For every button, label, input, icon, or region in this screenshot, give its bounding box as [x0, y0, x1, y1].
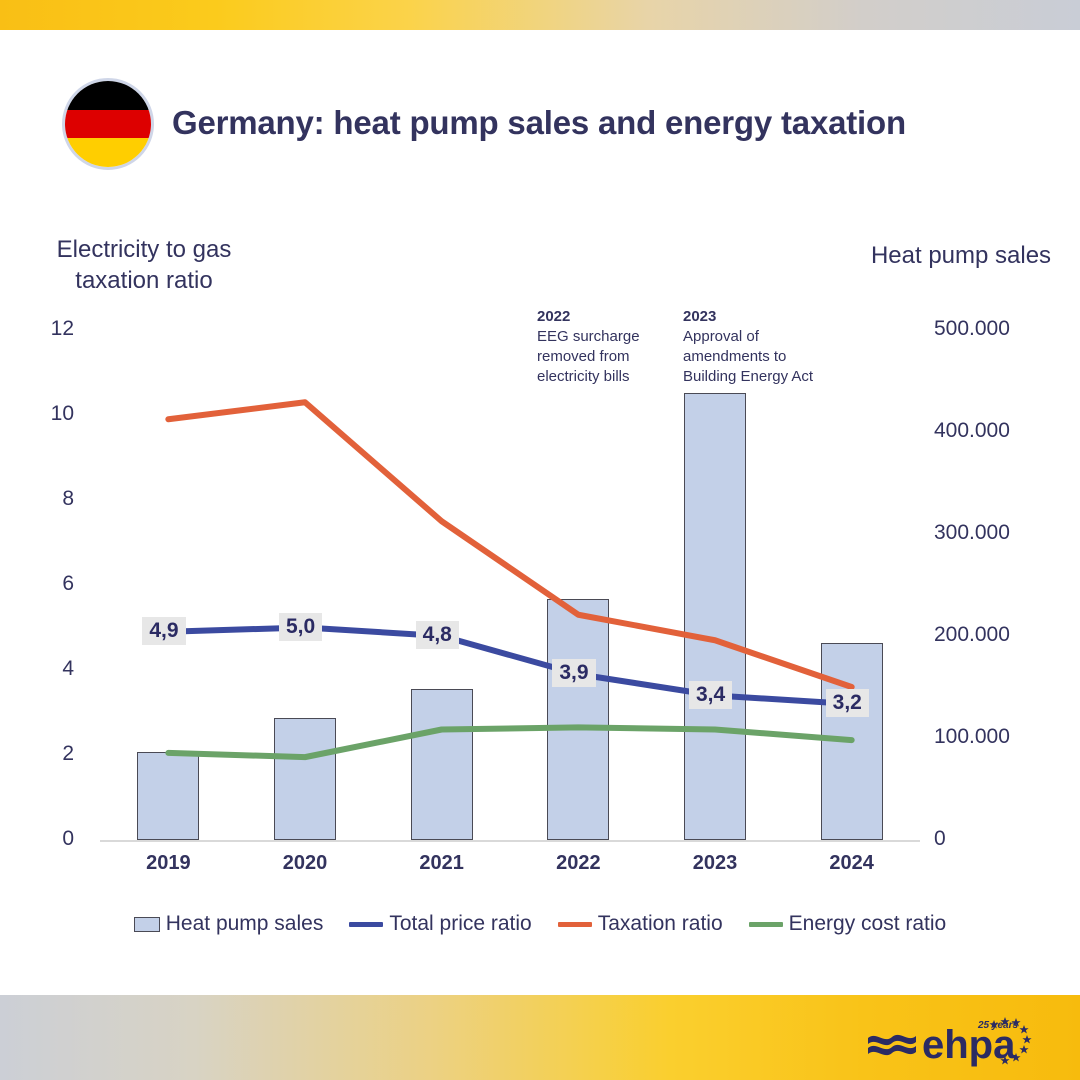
- right-tick: 500.000: [934, 317, 1054, 341]
- bar[interactable]: [684, 393, 746, 840]
- ehpa-logo: ehpa 25 years: [866, 1012, 1046, 1068]
- right-tick: 300.000: [934, 521, 1054, 545]
- x-axis-label: 2024: [792, 852, 912, 875]
- annotation-2023-year: 2023: [683, 307, 843, 327]
- bar[interactable]: [411, 689, 473, 840]
- legend-item[interactable]: Taxation ratio: [558, 912, 723, 936]
- x-axis-label: 2019: [108, 852, 228, 875]
- top-gradient-banner: [0, 0, 1080, 30]
- annotation-2022-year: 2022: [537, 307, 687, 327]
- bar[interactable]: [547, 599, 609, 840]
- annotation-2023-text: Approval of amendments to Building Energ…: [683, 328, 813, 385]
- x-axis-label: 2021: [382, 852, 502, 875]
- legend-item-label: Heat pump sales: [166, 912, 324, 936]
- legend-item[interactable]: Energy cost ratio: [749, 912, 947, 936]
- chart-legend: Heat pump salesTotal price ratioTaxation…: [0, 912, 1080, 936]
- right-axis-title: Heat pump sales: [866, 240, 1056, 271]
- point-label: 3,4: [689, 681, 732, 709]
- left-tick: 12: [14, 317, 74, 341]
- legend-item-label: Total price ratio: [389, 912, 531, 936]
- left-tick: 4: [14, 657, 74, 681]
- point-label: 4,8: [416, 621, 459, 649]
- legend-swatch-line-icon: [558, 922, 592, 927]
- bar[interactable]: [274, 718, 336, 840]
- annotation-2022: 2022 EEG surcharge removed from electric…: [537, 307, 687, 387]
- left-tick: 8: [14, 487, 74, 511]
- right-tick: 100.000: [934, 725, 1054, 749]
- left-tick: 0: [14, 827, 74, 851]
- point-label: 3,2: [826, 689, 869, 717]
- plot-area: [100, 330, 920, 840]
- bar[interactable]: [821, 643, 883, 840]
- annotation-2022-text: EEG surcharge removed from electricity b…: [537, 328, 640, 385]
- left-axis-title: Electricity to gas taxation ratio: [44, 234, 244, 296]
- x-axis-label: 2020: [245, 852, 365, 875]
- left-tick: 2: [14, 742, 74, 766]
- legend-item[interactable]: Total price ratio: [349, 912, 531, 936]
- germany-flag-icon: [62, 78, 154, 170]
- point-label: 5,0: [279, 613, 322, 641]
- legend-item-label: Taxation ratio: [598, 912, 723, 936]
- legend-swatch-line-icon: [349, 922, 383, 927]
- x-axis-label: 2023: [655, 852, 775, 875]
- x-axis-label: 2022: [518, 852, 638, 875]
- right-tick: 400.000: [934, 419, 1054, 443]
- slide-root: Germany: heat pump sales and energy taxa…: [0, 0, 1080, 1080]
- left-tick: 10: [14, 402, 74, 426]
- legend-item-label: Energy cost ratio: [789, 912, 947, 936]
- legend-swatch-bar-icon: [134, 917, 160, 932]
- right-tick: 0: [934, 827, 1054, 851]
- point-label: 3,9: [552, 659, 595, 687]
- legend-swatch-line-icon: [749, 922, 783, 927]
- point-label: 4,9: [142, 617, 185, 645]
- legend-item[interactable]: Heat pump sales: [134, 912, 324, 936]
- right-tick: 200.000: [934, 623, 1054, 647]
- x-axis-baseline: [100, 840, 920, 842]
- left-tick: 6: [14, 572, 74, 596]
- annotation-2023: 2023 Approval of amendments to Building …: [683, 307, 843, 387]
- page-title: Germany: heat pump sales and energy taxa…: [172, 104, 906, 142]
- bar[interactable]: [137, 752, 199, 840]
